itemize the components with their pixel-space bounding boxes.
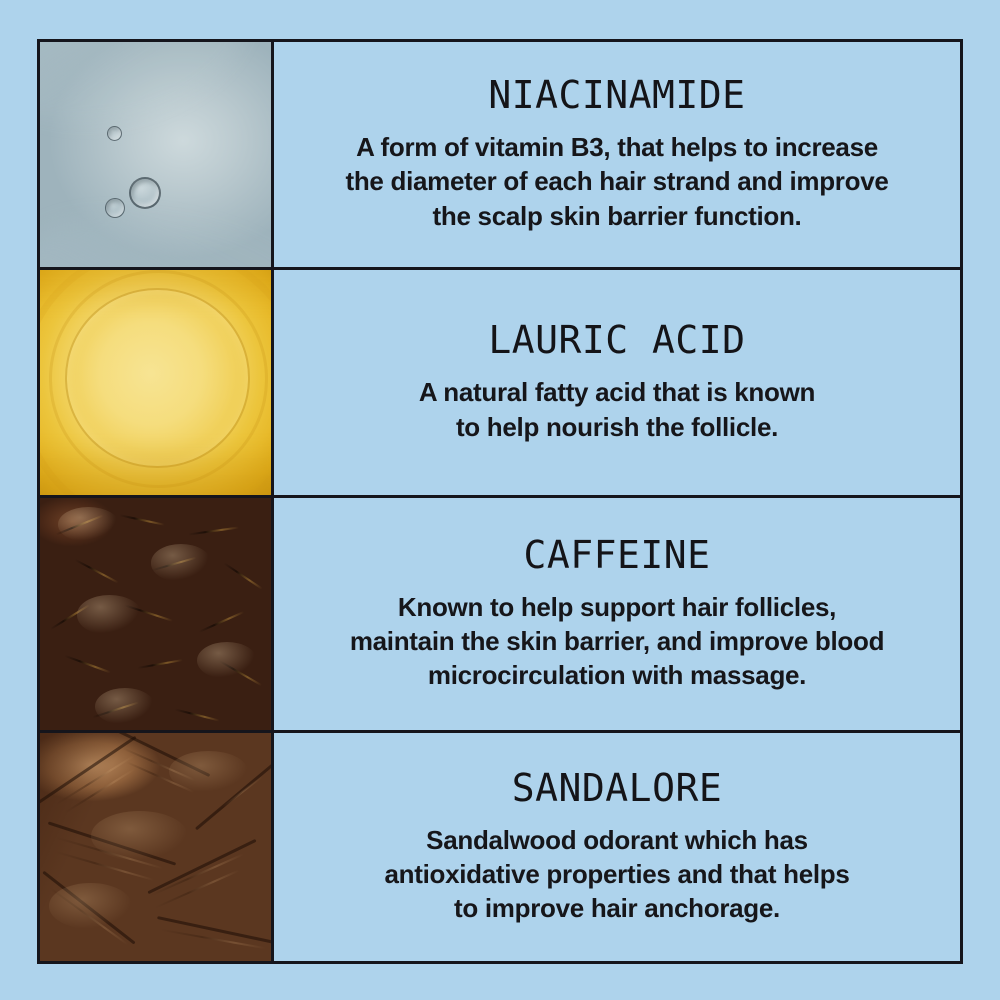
ingredient-description: Known to help support hair follicles, ma… <box>350 590 884 693</box>
bean-crease <box>75 559 119 584</box>
bean-crease <box>64 654 110 672</box>
lauric-acid-oil-image <box>40 270 274 495</box>
bean-crease <box>151 557 196 572</box>
bean-crease <box>137 659 183 669</box>
niacinamide-gel-image <box>40 42 274 267</box>
description-line: Sandalwood odorant which has <box>384 823 849 857</box>
oil-ring <box>40 270 274 495</box>
ingredient-description: A natural fatty acid that is known to he… <box>419 375 815 444</box>
description-line: the scalp skin barrier function. <box>345 199 888 233</box>
wood-highlight <box>169 751 248 792</box>
ingredient-text-lauric-acid: LAURIC ACID A natural fatty acid that is… <box>274 270 960 495</box>
bubble-icon <box>129 177 161 209</box>
description-line: maintain the skin barrier, and improve b… <box>350 624 884 658</box>
bean-highlight <box>58 507 118 542</box>
bean-crease <box>119 514 165 526</box>
bean-highlight <box>197 642 257 679</box>
ingredient-text-niacinamide: NIACINAMIDE A form of vitamin B3, that h… <box>274 42 960 267</box>
bean-crease <box>92 702 139 719</box>
ingredient-title: CAFFEINE <box>523 536 710 574</box>
ingredient-title: SANDALORE <box>512 769 722 807</box>
description-line: microcirculation with massage. <box>350 658 884 692</box>
description-line: A natural fatty acid that is known <box>419 375 815 409</box>
bean-crease <box>218 660 261 686</box>
bean-crease <box>50 604 90 630</box>
description-line: the diameter of each hair strand and imp… <box>345 164 888 198</box>
description-line: to help nourish the follicle. <box>419 410 815 444</box>
ingredient-text-sandalore: SANDALORE Sandalwood odorant which has a… <box>274 733 960 961</box>
description-line: antioxidative properties and that helps <box>384 857 849 891</box>
wood-grain <box>161 929 266 949</box>
ingredient-row-niacinamide: NIACINAMIDE A form of vitamin B3, that h… <box>40 42 960 270</box>
bean-crease <box>188 527 239 536</box>
wood-highlight <box>91 811 188 861</box>
bubble-icon <box>105 198 125 218</box>
bean-crease <box>55 514 103 535</box>
oil-ring <box>49 270 268 488</box>
caffeine-coffee-beans-image <box>40 498 274 730</box>
wood-highlight <box>49 883 132 929</box>
description-line: to improve hair anchorage. <box>384 891 849 925</box>
ingredient-text-caffeine: CAFFEINE Known to help support hair foll… <box>274 498 960 730</box>
bubble-icon <box>107 126 122 141</box>
description-line: A form of vitamin B3, that helps to incr… <box>345 130 888 164</box>
description-line: Known to help support hair follicles, <box>350 590 884 624</box>
ingredient-row-sandalore: SANDALORE Sandalwood odorant which has a… <box>40 733 960 961</box>
ingredient-row-caffeine: CAFFEINE Known to help support hair foll… <box>40 498 960 733</box>
ingredient-description: Sandalwood odorant which has antioxidati… <box>384 823 849 926</box>
ingredient-title: NIACINAMIDE <box>488 76 745 114</box>
ingredient-row-lauric-acid: LAURIC ACID A natural fatty acid that is… <box>40 270 960 498</box>
oil-ring <box>65 288 249 468</box>
bean-crease <box>174 708 219 721</box>
bean-crease <box>124 604 173 622</box>
ingredient-title: LAURIC ACID <box>488 321 745 359</box>
ingredient-description: A form of vitamin B3, that helps to incr… <box>345 130 888 233</box>
ingredients-table: NIACINAMIDE A form of vitamin B3, that h… <box>37 39 963 964</box>
sandalore-sandalwood-chips-image <box>40 733 274 961</box>
bean-crease <box>224 562 263 589</box>
bean-highlight <box>77 595 142 634</box>
bean-crease <box>199 611 244 633</box>
